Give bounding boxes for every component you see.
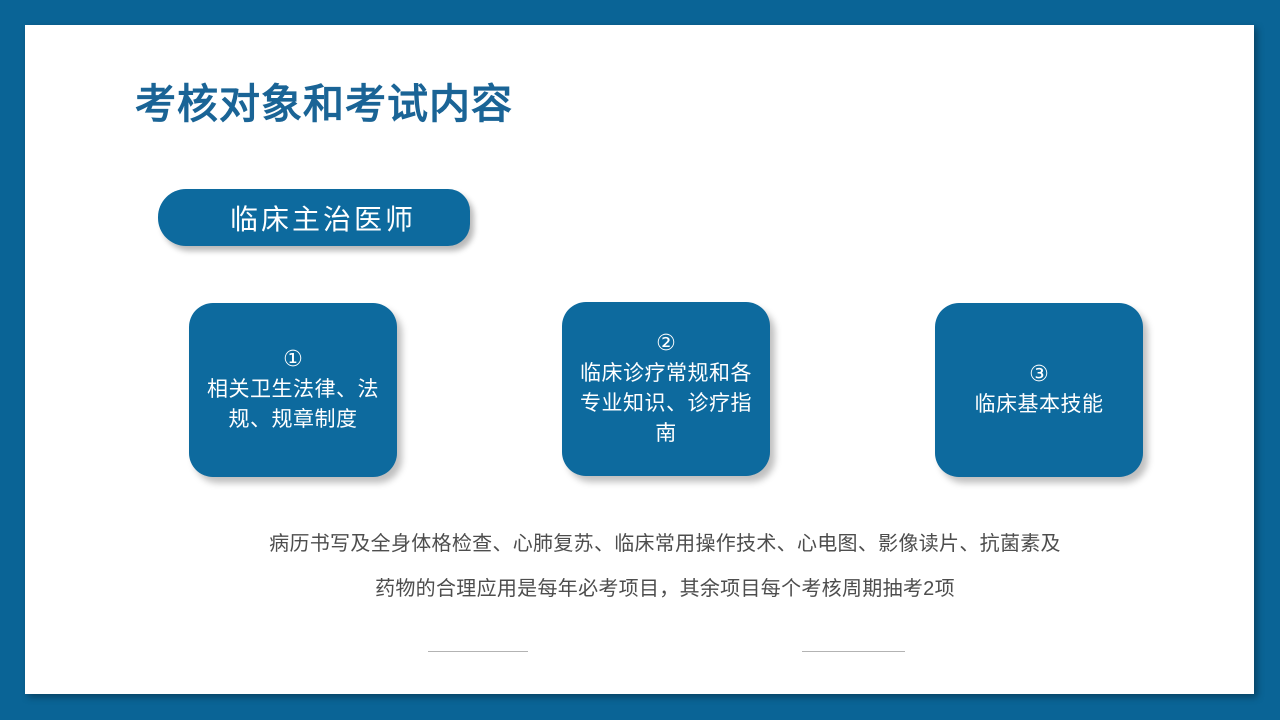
card-number-1: ①	[283, 345, 303, 375]
content-card-2[interactable]: ② 临床诊疗常规和各专业知识、诊疗指南	[562, 302, 770, 476]
slide-content-panel: 考核对象和考试内容 临床主治医师 ① 相关卫生法律、法规、规章制度 ② 临床诊疗…	[25, 25, 1254, 694]
subject-badge-label: 临床主治医师	[212, 198, 416, 238]
card-text-2: 临床诊疗常规和各专业知识、诊疗指南	[572, 359, 760, 448]
page-title: 考核对象和考试内容	[135, 80, 513, 129]
card-text-3: 临床基本技能	[975, 390, 1104, 420]
footnote-line-2: 药物的合理应用是每年必考项目，其余项目每个考核周期抽考2项	[140, 567, 1190, 612]
card-number-2: ②	[656, 329, 676, 359]
content-card-3[interactable]: ③ 临床基本技能	[935, 303, 1143, 477]
content-cards-row: ① 相关卫生法律、法规、规章制度 ② 临床诊疗常规和各专业知识、诊疗指南 ③ 临…	[25, 302, 1280, 482]
slide-frame: 考核对象和考试内容 临床主治医师 ① 相关卫生法律、法规、规章制度 ② 临床诊疗…	[0, 0, 1280, 720]
footnote-block: 病历书写及全身体格检查、心肺复苏、临床常用操作技术、心电图、影像读片、抗菌素及 …	[140, 522, 1190, 612]
subject-badge[interactable]: 临床主治医师	[158, 189, 470, 246]
card-text-1: 相关卫生法律、法规、规章制度	[199, 375, 387, 435]
connector-line-1	[428, 651, 528, 652]
card-number-3: ③	[1029, 360, 1049, 390]
connector-line-2	[802, 651, 905, 652]
footnote-line-1: 病历书写及全身体格检查、心肺复苏、临床常用操作技术、心电图、影像读片、抗菌素及	[140, 522, 1190, 567]
content-card-1[interactable]: ① 相关卫生法律、法规、规章制度	[189, 303, 397, 477]
